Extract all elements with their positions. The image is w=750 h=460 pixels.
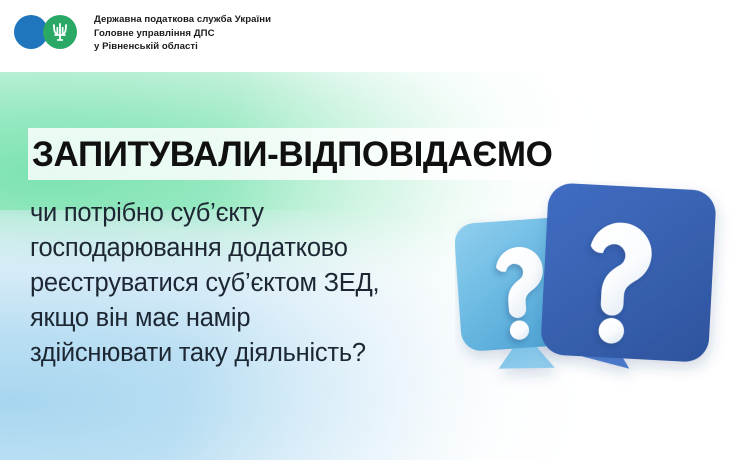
brand-line-3: у Рівненській області	[94, 40, 271, 54]
brand-line-1: Державна податкова служба України	[94, 13, 271, 27]
question-text: чи потрібно суб’єкту господарювання дода…	[30, 196, 500, 371]
question-line: реєструватися суб’єктом ЗЕД,	[30, 266, 500, 301]
page-title: ЗАПИТУВАЛИ-ВІДПОВІДАЄМО	[32, 133, 552, 176]
brand-text: Державна податкова служба України Головн…	[94, 12, 271, 54]
brand-header: Державна податкова служба України Головн…	[14, 12, 271, 54]
ukraine-trident-icon	[43, 15, 77, 49]
logo	[14, 12, 84, 52]
brand-line-2: Головне управління ДПС	[94, 27, 271, 41]
question-line: чи потрібно суб’єкту	[30, 196, 500, 231]
question-line: здійснювати таку діяльність?	[30, 336, 500, 371]
poster-canvas: Державна податкова служба України Головн…	[0, 0, 750, 460]
question-line: господарювання додатково	[30, 231, 500, 266]
question-line: якщо він має намір	[30, 301, 500, 336]
